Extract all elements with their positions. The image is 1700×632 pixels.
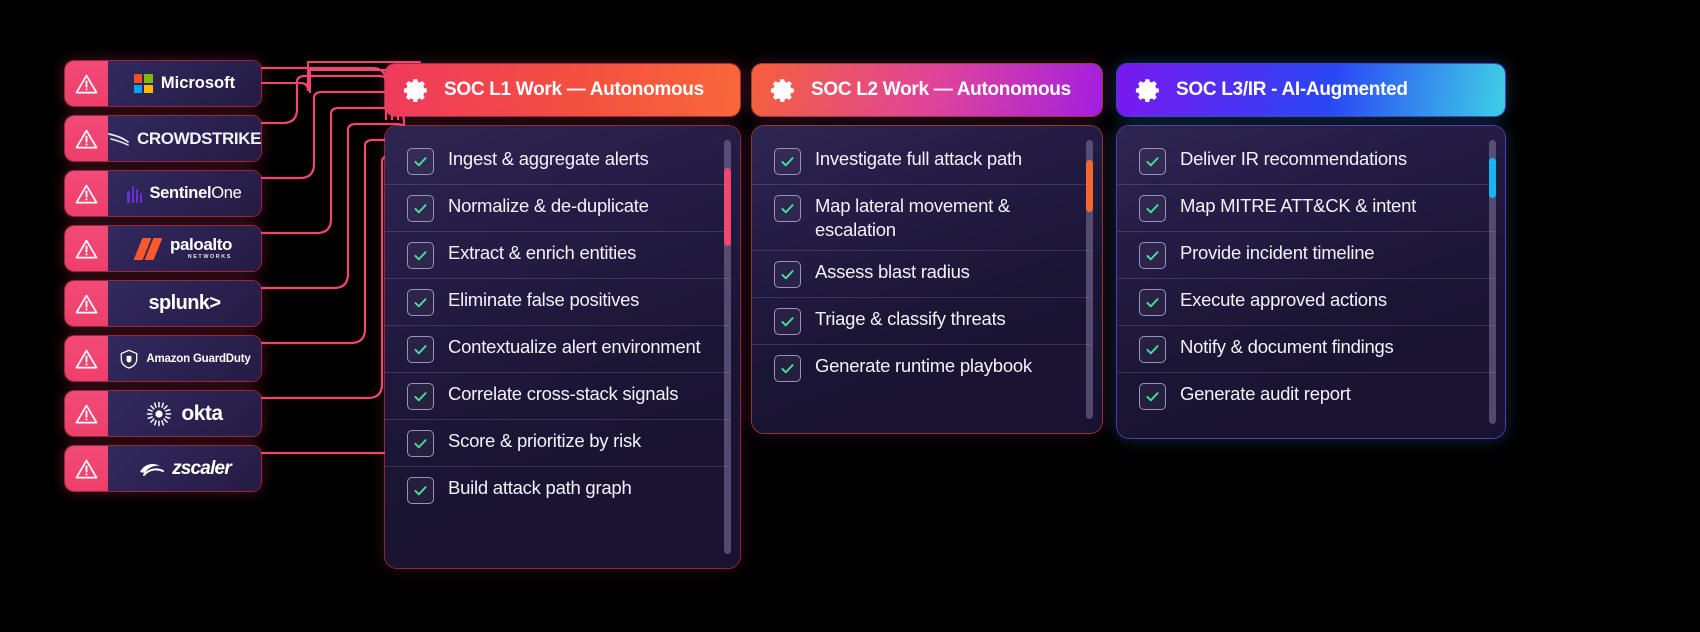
vendor-badge-splunk[interactable]: splunk>: [65, 281, 261, 326]
list-item[interactable]: Normalize & de-duplicate: [385, 185, 730, 232]
list-item-label: Build attack path graph: [448, 476, 632, 500]
list-item[interactable]: Extract & enrich entities: [385, 232, 730, 279]
list-item-label: Map MITRE ATT&CK & intent: [1180, 194, 1416, 218]
list-item-label: Ingest & aggregate alerts: [448, 147, 648, 171]
vendor-badge-sentinelone[interactable]: SentinelOne: [65, 171, 261, 216]
list-item[interactable]: Execute approved actions: [1117, 279, 1495, 326]
list-item[interactable]: Assess blast radius: [752, 251, 1092, 298]
list-item[interactable]: Notify & document findings: [1117, 326, 1495, 373]
soc-l3-header: SOC L3/IR - AI-Augmented: [1117, 64, 1505, 116]
diagram-canvas: Microsoft CROWDSTRIKE SentinelOne: [0, 0, 1700, 632]
falcon-icon: [108, 129, 134, 149]
vendor-badge-okta[interactable]: okta: [65, 391, 261, 436]
check-icon[interactable]: [774, 355, 801, 382]
check-icon[interactable]: [774, 308, 801, 335]
list-item[interactable]: Generate audit report: [1117, 373, 1495, 419]
list-item[interactable]: Ingest & aggregate alerts: [385, 138, 730, 185]
list-item[interactable]: Contextualize alert environment: [385, 326, 730, 373]
list-item-label: Deliver IR recommendations: [1180, 147, 1407, 171]
list-item[interactable]: Deliver IR recommendations: [1117, 138, 1495, 185]
list-item-label: Correlate cross-stack signals: [448, 382, 678, 406]
soc-l3-title: SOC L3/IR - AI-Augmented: [1176, 79, 1408, 101]
check-icon[interactable]: [407, 242, 434, 269]
vendor-label: SentinelOne: [149, 184, 241, 203]
gear-icon: [403, 77, 430, 104]
vendor-label: Microsoft: [161, 74, 235, 93]
warning-triangle-icon: [65, 336, 108, 381]
soc-l1-header: SOC L1 Work — Autonomous: [385, 64, 740, 116]
guardduty-shield-icon: [118, 348, 140, 370]
list-item-label: Score & prioritize by risk: [448, 429, 641, 453]
soc-l2-body: Investigate full attack path Map lateral…: [752, 126, 1102, 433]
microsoft-squares-icon: [134, 74, 153, 93]
column-soc-l1: SOC L1 Work — Autonomous Ingest & aggreg…: [385, 64, 740, 568]
gear-icon: [770, 77, 797, 104]
vendor-badge-zscaler[interactable]: zscaler: [65, 446, 261, 491]
vendor-badge-amazon-guardduty[interactable]: Amazon GuardDuty: [65, 336, 261, 381]
warning-triangle-icon: [65, 446, 108, 491]
vendor-label: Amazon GuardDuty: [146, 353, 250, 365]
soc-l2-scrollbar-thumb[interactable]: [1086, 160, 1093, 212]
warning-triangle-icon: [65, 116, 108, 161]
list-item[interactable]: Generate runtime playbook: [752, 345, 1092, 391]
check-icon[interactable]: [407, 383, 434, 410]
list-item-label: Notify & document findings: [1180, 335, 1394, 359]
splunk-logo: splunk>: [108, 281, 261, 326]
check-icon[interactable]: [1139, 336, 1166, 363]
list-item-label: Triage & classify threats: [815, 307, 1005, 331]
vendor-label: zscaler: [172, 458, 231, 480]
soc-l1-body: Ingest & aggregate alerts Normalize & de…: [385, 126, 740, 568]
gear-icon: [1135, 77, 1162, 104]
column-soc-l2: SOC L2 Work — Autonomous Investigate ful…: [752, 64, 1102, 433]
warning-triangle-icon: [65, 61, 108, 106]
soc-l2-title: SOC L2 Work — Autonomous: [811, 79, 1071, 101]
list-item-label: Map lateral movement & escalation: [815, 194, 1076, 241]
list-item[interactable]: Score & prioritize by risk: [385, 420, 730, 467]
soc-l1-scrollbar-thumb[interactable]: [724, 168, 731, 246]
column-soc-l3: SOC L3/IR - AI-Augmented Deliver IR reco…: [1117, 64, 1505, 438]
check-icon[interactable]: [407, 195, 434, 222]
list-item-label: Normalize & de-duplicate: [448, 194, 649, 218]
microsoft-logo: Microsoft: [108, 61, 261, 106]
check-icon[interactable]: [774, 148, 801, 175]
vendor-label: okta: [181, 402, 222, 426]
vendor-label: paloalto NETWORKS: [170, 236, 232, 260]
check-icon[interactable]: [407, 430, 434, 457]
soc-l1-checklist: Ingest & aggregate alerts Normalize & de…: [385, 138, 730, 513]
zscaler-swoosh-icon: [138, 459, 168, 479]
check-icon[interactable]: [1139, 195, 1166, 222]
sentinelone-logo: SentinelOne: [108, 171, 261, 216]
list-item-label: Generate audit report: [1180, 382, 1351, 406]
list-item-label: Execute approved actions: [1180, 288, 1387, 312]
soc-l1-title: SOC L1 Work — Autonomous: [444, 79, 704, 101]
vendor-label: splunk>: [149, 292, 221, 315]
check-icon[interactable]: [774, 195, 801, 222]
check-icon[interactable]: [774, 261, 801, 288]
warning-triangle-icon: [65, 226, 108, 271]
paloalto-logo: paloalto NETWORKS: [108, 226, 261, 271]
soc-l3-checklist: Deliver IR recommendations Map MITRE ATT…: [1117, 138, 1495, 419]
list-item[interactable]: Correlate cross-stack signals: [385, 373, 730, 420]
check-icon[interactable]: [1139, 383, 1166, 410]
check-icon[interactable]: [1139, 289, 1166, 316]
vendor-badge-microsoft[interactable]: Microsoft: [65, 61, 261, 106]
list-item[interactable]: Investigate full attack path: [752, 138, 1092, 185]
sentinelone-mark-icon: [127, 185, 142, 203]
list-item-label: Eliminate false positives: [448, 288, 639, 312]
warning-triangle-icon: [65, 281, 108, 326]
vendor-label: CROWDSTRIKE: [137, 129, 261, 149]
soc-l3-scrollbar-thumb[interactable]: [1489, 158, 1496, 198]
warning-triangle-icon: [65, 171, 108, 216]
list-item-label: Contextualize alert environment: [448, 335, 700, 359]
list-item[interactable]: Provide incident timeline: [1117, 232, 1495, 279]
zscaler-logo: zscaler: [108, 446, 261, 491]
okta-burst-icon: [146, 401, 172, 427]
list-item[interactable]: Map lateral movement & escalation: [752, 185, 1092, 251]
check-icon[interactable]: [407, 289, 434, 316]
list-item-label: Investigate full attack path: [815, 147, 1022, 171]
amazon-guardduty-logo: Amazon GuardDuty: [108, 336, 261, 381]
check-icon[interactable]: [407, 336, 434, 363]
list-item[interactable]: Map MITRE ATT&CK & intent: [1117, 185, 1495, 232]
list-item[interactable]: Triage & classify threats: [752, 298, 1092, 345]
list-item-label: Assess blast radius: [815, 260, 970, 284]
soc-l2-header: SOC L2 Work — Autonomous: [752, 64, 1102, 116]
list-item-label: Extract & enrich entities: [448, 241, 636, 265]
soc-l3-scrollbar[interactable]: [1489, 140, 1496, 424]
list-item[interactable]: Eliminate false positives: [385, 279, 730, 326]
crowdstrike-logo: CROWDSTRIKE: [108, 116, 261, 161]
check-icon[interactable]: [407, 148, 434, 175]
list-item-label: Generate runtime playbook: [815, 354, 1032, 378]
paloalto-mark-icon: [137, 239, 163, 258]
soc-l1-scrollbar[interactable]: [724, 140, 731, 554]
check-icon[interactable]: [1139, 242, 1166, 269]
vendor-badge-crowdstrike[interactable]: CROWDSTRIKE: [65, 116, 261, 161]
list-item[interactable]: Build attack path graph: [385, 467, 730, 513]
warning-triangle-icon: [65, 391, 108, 436]
vendor-badge-paloalto[interactable]: paloalto NETWORKS: [65, 226, 261, 271]
check-icon[interactable]: [1139, 148, 1166, 175]
okta-logo: okta: [108, 391, 261, 436]
soc-l2-checklist: Investigate full attack path Map lateral…: [752, 138, 1092, 391]
check-icon[interactable]: [407, 477, 434, 504]
list-item-label: Provide incident timeline: [1180, 241, 1374, 265]
soc-l3-body: Deliver IR recommendations Map MITRE ATT…: [1117, 126, 1505, 438]
soc-l2-scrollbar[interactable]: [1086, 140, 1093, 419]
